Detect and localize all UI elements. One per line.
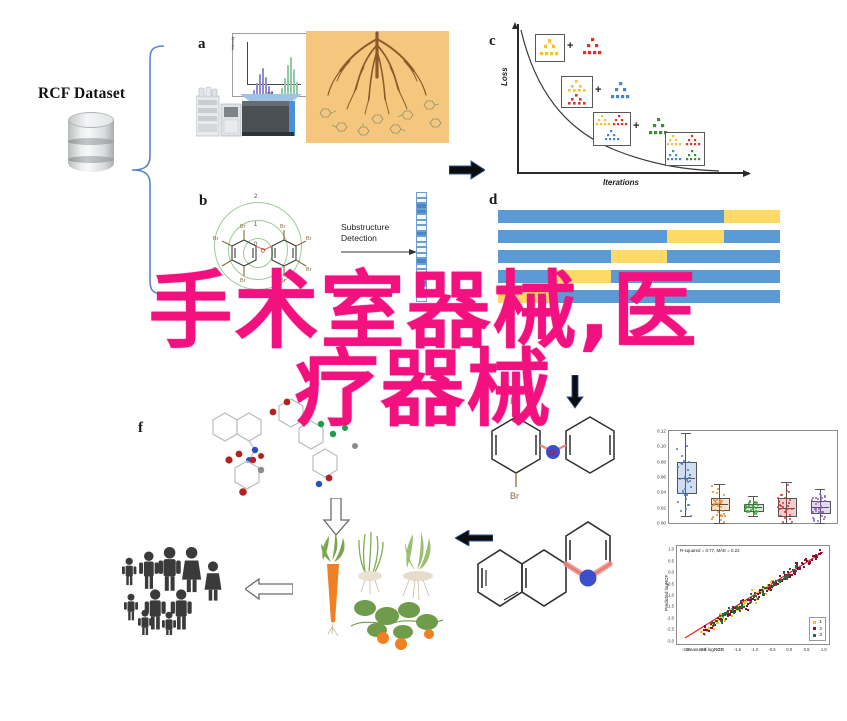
- scatter-point: [769, 587, 771, 589]
- boxplot-point: [787, 484, 789, 486]
- scatter-point: [750, 593, 752, 595]
- scatter-point: [704, 625, 706, 627]
- boxplot-point: [690, 486, 692, 488]
- scatter-point: [803, 566, 805, 568]
- scatter-point: [708, 630, 710, 632]
- scatter-point: [713, 628, 715, 630]
- boxplot-y-tick: 0.10: [657, 444, 666, 449]
- scatter-point: [819, 553, 821, 555]
- scatter-point: [721, 620, 723, 622]
- boxplot-point: [818, 511, 820, 513]
- loss-y-axis-label: Loss: [500, 67, 509, 86]
- boxplot-point: [745, 507, 747, 509]
- scatter-point: [739, 610, 741, 612]
- boxplot-point: [677, 501, 679, 503]
- scatter-point: [741, 603, 743, 605]
- boxplot-point: [789, 514, 791, 516]
- boxplot-point: [819, 493, 821, 495]
- scatter-point: [721, 622, 723, 624]
- boxplot-point: [711, 518, 713, 520]
- boxplot-point: [757, 504, 759, 506]
- scatter-point: [753, 596, 755, 598]
- boxplot-point: [749, 500, 751, 502]
- scatter-point: [772, 585, 774, 587]
- page-title: RCF Dataset: [38, 85, 125, 103]
- boxplot-point: [748, 506, 750, 508]
- svg-text:O: O: [550, 448, 556, 457]
- scatter-point: [732, 608, 734, 610]
- root-soil-illustration: [306, 31, 449, 143]
- boxplot-point: [746, 511, 748, 513]
- scatter-point: [705, 629, 707, 631]
- scatter-point: [765, 593, 767, 595]
- boxplot-point: [683, 460, 685, 462]
- boxplot-point: [788, 491, 790, 493]
- flow-arrow-left-icon: [455, 530, 493, 546]
- crops-illustration: [305, 530, 455, 660]
- boxplot-point: [685, 498, 687, 500]
- boxplot-point: [780, 494, 782, 496]
- scatter-x-tick: 0.0: [786, 647, 792, 652]
- boxplot-point: [686, 494, 688, 496]
- boxplot-y-tick: 0.06: [657, 475, 666, 480]
- scatter-y-tick: -3.0: [667, 638, 674, 643]
- scatter-point: [725, 618, 727, 620]
- cv-fold-row: [498, 210, 780, 223]
- boxplot-point: [788, 502, 790, 504]
- scatter-point: [703, 633, 705, 635]
- boxplot-point: [720, 519, 722, 521]
- scatter-point: [754, 599, 756, 601]
- boxplot-axes: 0.000.020.040.060.080.100.12: [668, 430, 838, 524]
- boxplot-point: [784, 497, 786, 499]
- boxplot-point: [789, 499, 791, 501]
- boxplot-point: [690, 515, 692, 517]
- watermark-line-2: 疗器械: [0, 350, 847, 428]
- molecule-highlight-bottom: [470, 520, 640, 645]
- svg-text:O: O: [261, 249, 266, 255]
- scatter-point: [784, 576, 786, 578]
- scatter-point: [819, 549, 821, 551]
- boxplot-point: [789, 518, 791, 520]
- boxplot-point: [724, 515, 726, 517]
- database-icon: [68, 112, 114, 178]
- legend-label: 3: [819, 632, 822, 638]
- boxplot-point: [755, 513, 757, 515]
- boxplot-point: [782, 521, 784, 523]
- scatter-legend: 123: [809, 617, 826, 641]
- watermark-overlay: 手术室器械,医 疗器械: [0, 272, 847, 428]
- scatter-x-tick: 0.5: [804, 647, 810, 652]
- svg-text:Br: Br: [213, 236, 219, 242]
- boxplot-point: [817, 501, 819, 503]
- scatter-point: [751, 589, 753, 591]
- scatter-point: [715, 620, 717, 622]
- boxplot-point: [684, 488, 686, 490]
- boxplot-point: [719, 501, 721, 503]
- spectrum-y-axis-label: Intensity: [231, 37, 235, 50]
- predicted-vs-measured-scatter: R-squared = 0.77, MAE = 0.22 123 -3.0-2.…: [640, 535, 845, 670]
- scatter-point: [766, 590, 768, 592]
- boxplot-point: [748, 511, 750, 513]
- boxplot-point: [824, 500, 826, 502]
- boxplot-point: [811, 499, 813, 501]
- boxplot-point: [755, 507, 757, 509]
- scatter-point: [755, 602, 757, 604]
- detection-arrow-icon: [341, 248, 417, 256]
- plus-operator-2: +: [595, 84, 601, 96]
- boxplot-point: [787, 508, 789, 510]
- boxplot-point: [812, 497, 814, 499]
- boxplot-point: [721, 515, 723, 517]
- legend-swatch: [813, 627, 816, 630]
- boxplot-point: [682, 492, 684, 494]
- scatter-point: [765, 587, 767, 589]
- scatter-point: [775, 580, 777, 582]
- boxplot-point: [677, 492, 679, 494]
- boxplot-point: [689, 477, 691, 479]
- boxplot-point: [689, 480, 691, 482]
- scatter-point: [728, 607, 730, 609]
- scatter-point: [713, 623, 715, 625]
- scatter-point: [757, 598, 759, 600]
- cv-fold-row: [498, 230, 780, 243]
- figure-canvas: RCF Dataset a Intensity m/z: [0, 0, 847, 721]
- scatter-point: [750, 597, 752, 599]
- scatter-point: [790, 574, 792, 576]
- boxplot-point: [777, 506, 779, 508]
- boxplot-point: [780, 515, 782, 517]
- boxplot-point: [817, 520, 819, 522]
- scatter-point: [779, 579, 781, 581]
- scatter-point: [749, 602, 751, 604]
- scatter-point: [711, 627, 713, 629]
- boxplot-point: [679, 478, 681, 480]
- scatter-point: [801, 562, 803, 564]
- scatter-point: [811, 559, 813, 561]
- svg-text:Br: Br: [240, 224, 246, 230]
- legend-swatch: [813, 634, 816, 637]
- scatter-point: [731, 615, 733, 617]
- scatter-x-tick: 1.0: [821, 647, 827, 652]
- scatter-point: [746, 605, 748, 607]
- scatter-point: [806, 560, 808, 562]
- scatter-point: [786, 578, 788, 580]
- scatter-point: [795, 566, 797, 568]
- plus-operator-1: +: [567, 40, 573, 52]
- scatter-y-tick: -2.5: [667, 627, 674, 632]
- scatter-x-axis-label: Measured logRCF: [686, 647, 723, 652]
- grouping-bracket: [120, 44, 164, 296]
- boxplot-point: [723, 494, 725, 496]
- scatter-y-tick: 1.0: [668, 547, 674, 552]
- scatter-point: [747, 609, 749, 611]
- scatter-point: [787, 571, 789, 573]
- boxplot-point: [815, 510, 817, 512]
- boxplot-point: [685, 508, 687, 510]
- scatter-y-axis-label: Predicted logRCF: [664, 575, 669, 611]
- boxplot-point: [820, 499, 822, 501]
- boxplot-point: [681, 455, 683, 457]
- boxplot-y-tick: 0.08: [657, 459, 666, 464]
- boxplot-y-tick: 0.00: [657, 521, 666, 526]
- boxplot-point: [684, 478, 686, 480]
- substructure-detection-label: Substructure Detection: [341, 222, 389, 244]
- scatter-x-tick: -0.5: [768, 647, 775, 652]
- boxplot-point: [784, 517, 786, 519]
- scatter-point: [808, 562, 810, 564]
- scatter-point: [814, 555, 816, 557]
- boxplot-point: [823, 518, 825, 520]
- scatter-x-tick: -1.5: [734, 647, 741, 652]
- boxplot-point: [711, 485, 713, 487]
- boxplot-point: [754, 511, 756, 513]
- scatter-point: [742, 599, 744, 601]
- boxplot-point: [689, 474, 691, 476]
- scatter-point: [724, 612, 726, 614]
- svg-text:Br: Br: [306, 236, 312, 242]
- boxplot-point: [676, 448, 678, 450]
- scatter-point: [757, 593, 759, 595]
- boxplot-point: [722, 510, 724, 512]
- feature-importance-boxplot: 0.000.020.040.060.080.100.12: [640, 424, 845, 537]
- scatter-point: [722, 615, 724, 617]
- boxplot-y-tick: 0.12: [657, 429, 666, 434]
- population-icon-group: [120, 545, 240, 635]
- boxplot-point: [680, 510, 682, 512]
- boxplot-point: [716, 514, 718, 516]
- legend-swatch: [813, 621, 816, 624]
- legend-item: 3: [813, 632, 822, 638]
- boxplot-point: [753, 501, 755, 503]
- scatter-y-tick: -2.0: [667, 615, 674, 620]
- boxplot-point: [822, 511, 824, 513]
- scatter-point: [729, 613, 731, 615]
- scatter-point: [779, 575, 781, 577]
- boxplot-point: [712, 516, 714, 518]
- boxplot-point: [688, 504, 690, 506]
- boxplot-point: [812, 517, 814, 519]
- atom-label-br: Br: [510, 491, 519, 501]
- scatter-point: [783, 572, 785, 574]
- scatter-point: [733, 612, 735, 614]
- scatter-point: [762, 586, 764, 588]
- scatter-point: [727, 611, 729, 613]
- boxplot-y-tick: 0.04: [657, 490, 666, 495]
- boxplot-point: [711, 505, 713, 507]
- boxplot-point: [687, 469, 689, 471]
- scatter-axes: R-squared = 0.77, MAE = 0.22 123 -3.0-2.…: [676, 545, 830, 645]
- scatter-point: [789, 568, 791, 570]
- scatter-point: [738, 607, 740, 609]
- scatter-point: [792, 569, 794, 571]
- scatter-y-tick: 0.0: [668, 570, 674, 575]
- panel-label-a: a: [198, 36, 206, 53]
- panel-label-d: d: [489, 192, 497, 209]
- svg-text:Br: Br: [280, 224, 286, 230]
- scatter-point: [769, 585, 771, 587]
- scatter-point: [763, 593, 765, 595]
- boxplot-point: [717, 505, 719, 507]
- lcms-instrument-icon: [196, 86, 300, 138]
- scatter-y-tick: 0.5: [668, 558, 674, 563]
- scatter-point: [815, 558, 817, 560]
- boxplot-point: [714, 509, 716, 511]
- flow-arrow-right-icon: [449, 160, 485, 180]
- loss-x-axis-label: Iterations: [603, 178, 639, 187]
- scatter-point: [795, 570, 797, 572]
- scatter-x-tick: -1.0: [751, 647, 758, 652]
- boxplot-point: [712, 491, 714, 493]
- scatter-point: [712, 625, 714, 627]
- plus-operator-3: +: [633, 120, 639, 132]
- scatter-point: [743, 606, 745, 608]
- boxplot-point: [824, 496, 826, 498]
- scatter-point: [719, 615, 721, 617]
- scatter-point: [752, 598, 754, 600]
- scatter-point: [754, 592, 756, 594]
- boxplot-y-tick: 0.02: [657, 505, 666, 510]
- boxplot-point: [821, 515, 823, 517]
- hollow-arrow-left-icon: [245, 578, 293, 600]
- boxplot-point: [717, 503, 719, 505]
- loss-curve-chart: Loss Iterations +: [495, 20, 755, 185]
- scatter-point: [775, 584, 777, 586]
